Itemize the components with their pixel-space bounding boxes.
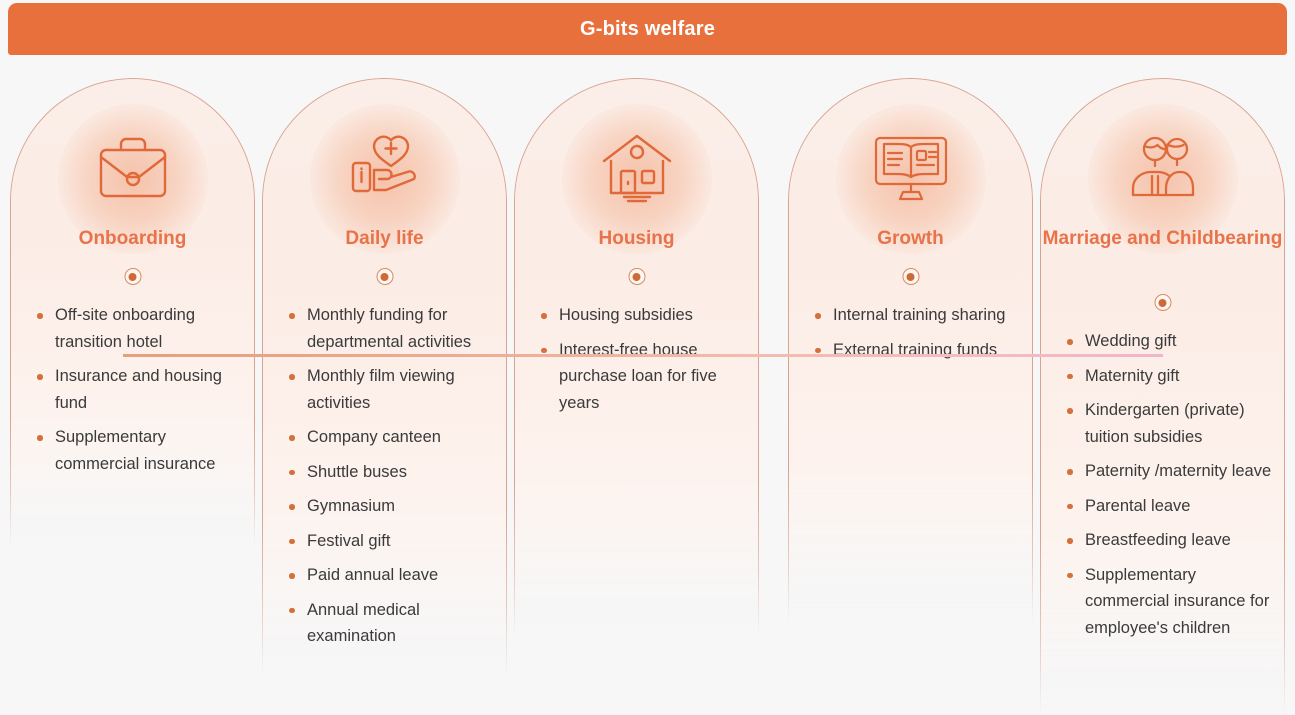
- benefit-list: Off-site onboarding transition hotel Ins…: [34, 302, 248, 485]
- benefit-list: Internal training sharing External train…: [812, 302, 1026, 371]
- card-title: Daily life: [262, 226, 507, 252]
- list-item: Supplementary commercial insurance for e…: [1064, 562, 1278, 642]
- couple-icon: [1121, 126, 1205, 210]
- list-item: Festival gift: [286, 528, 500, 555]
- list-item: Monthly funding for departmental activit…: [286, 302, 500, 355]
- timeline-connector-line: [123, 354, 1163, 357]
- timeline-node-dot: [628, 268, 645, 285]
- briefcase-icon: [91, 126, 175, 210]
- card-title: Onboarding: [10, 226, 255, 252]
- page-title: G-bits welfare: [580, 18, 715, 41]
- list-item: Gymnasium: [286, 493, 500, 520]
- list-item: Breastfeeding leave: [1064, 527, 1278, 554]
- list-item: Housing subsidies: [538, 302, 752, 329]
- list-item: Shuttle buses: [286, 459, 500, 486]
- timeline-node-dot: [124, 268, 141, 285]
- card-title: Growth: [788, 226, 1033, 252]
- timeline-node-dot: [902, 268, 919, 285]
- list-item: Insurance and housing fund: [34, 363, 248, 416]
- list-item: Paternity /maternity leave: [1064, 458, 1278, 485]
- list-item: Company canteen: [286, 424, 500, 451]
- header-banner: G-bits welfare: [8, 3, 1287, 55]
- list-item: External training funds: [812, 337, 1026, 364]
- list-item: Wedding gift: [1064, 328, 1278, 355]
- list-item: Paid annual leave: [286, 562, 500, 589]
- list-item: Maternity gift: [1064, 363, 1278, 390]
- benefit-list: Wedding gift Maternity gift Kindergarten…: [1064, 328, 1278, 649]
- welfare-columns: Onboarding Off-site onboarding transitio…: [0, 78, 1295, 715]
- hand-heart-care-icon: [343, 126, 427, 210]
- list-item: Internal training sharing: [812, 302, 1026, 329]
- card-title: Housing: [514, 226, 759, 252]
- list-item: Supplementary commercial insurance: [34, 424, 248, 477]
- list-item: Monthly film viewing activities: [286, 363, 500, 416]
- timeline-node-dot: [1154, 294, 1171, 311]
- list-item: Interest-free house purchase loan for fi…: [538, 337, 752, 417]
- list-item: Kindergarten (private) tuition subsidies: [1064, 397, 1278, 450]
- list-item: Annual medical examination: [286, 597, 500, 650]
- card-title: Marriage and Childbearing: [1040, 226, 1285, 252]
- benefit-list: Housing subsidies Interest-free house pu…: [538, 302, 752, 424]
- timeline-node-dot: [376, 268, 393, 285]
- monitor-book-icon: [869, 126, 953, 210]
- list-item: Off-site onboarding transition hotel: [34, 302, 248, 355]
- list-item: Parental leave: [1064, 493, 1278, 520]
- house-icon: [595, 126, 679, 210]
